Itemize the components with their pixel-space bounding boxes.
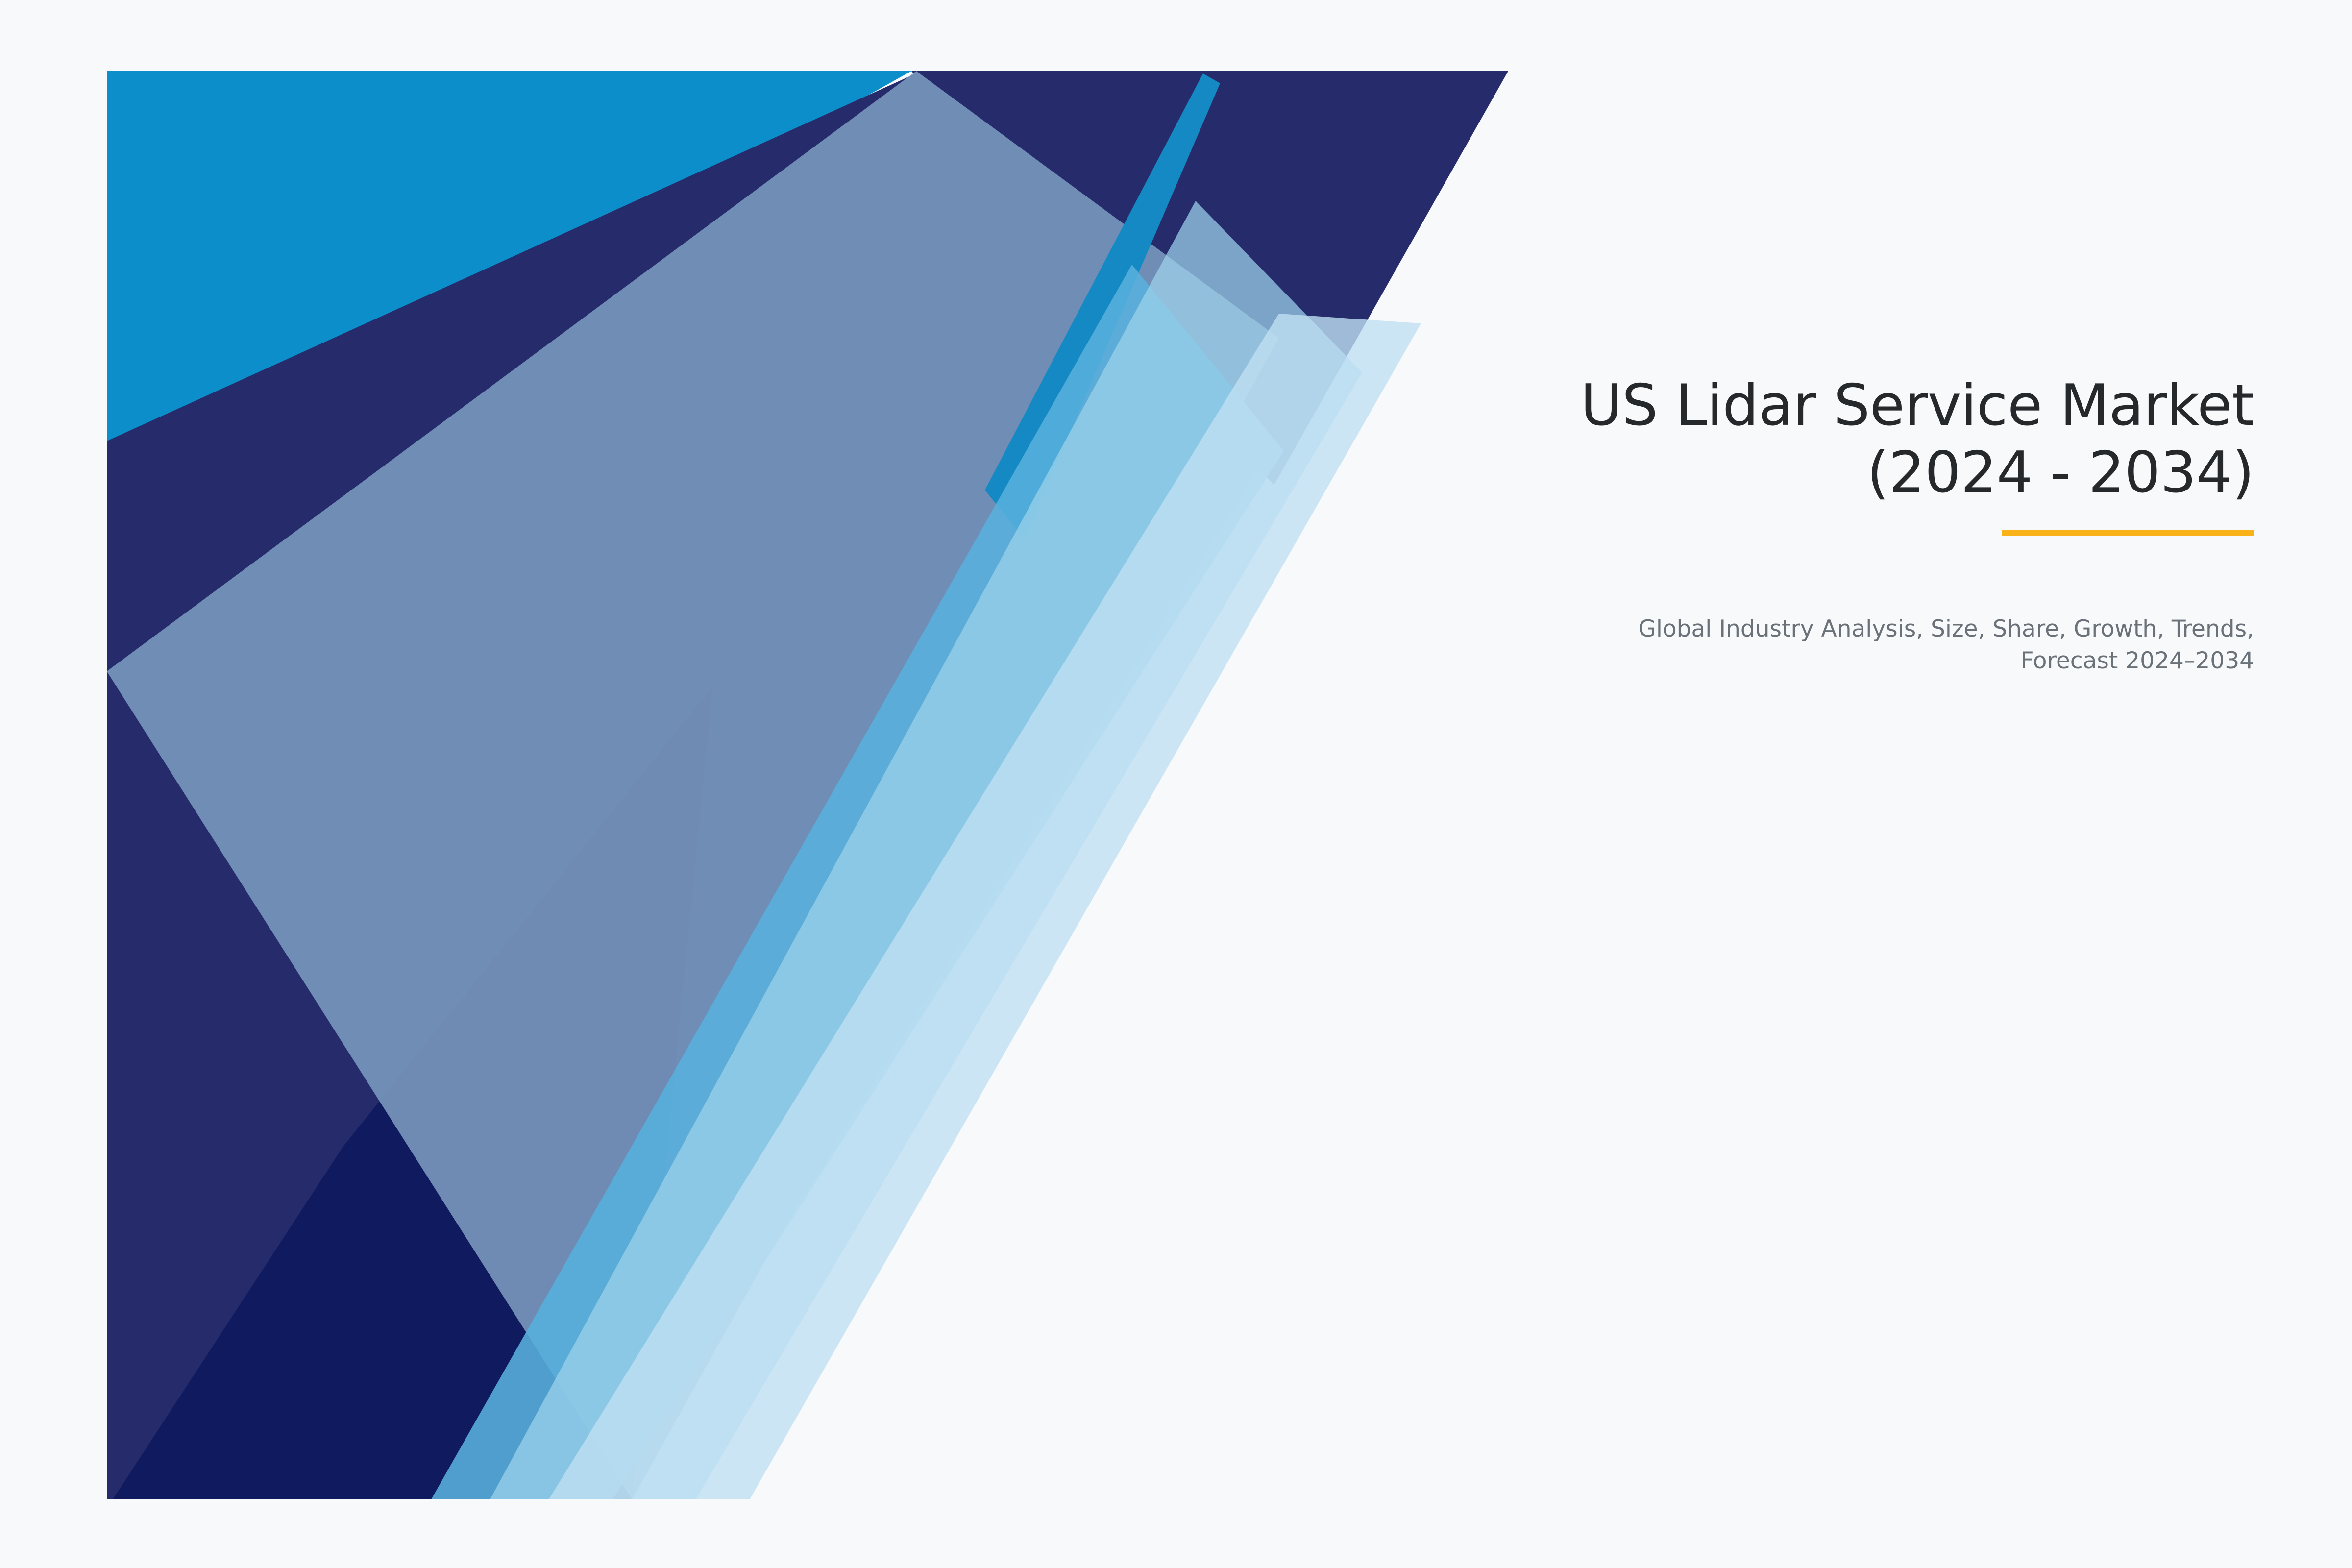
title-wrap: US Lidar Service Market (2024 - 2034) — [1480, 372, 2254, 507]
cover-page: US Lidar Service Market (2024 - 2034) Gl… — [0, 0, 2352, 1568]
report-title: US Lidar Service Market (2024 - 2034) — [1480, 372, 2254, 507]
abstract-geometric-artwork — [0, 0, 2352, 1568]
title-accent-underline — [2002, 530, 2254, 536]
cover-text-block: US Lidar Service Market (2024 - 2034) Gl… — [1480, 372, 2254, 677]
